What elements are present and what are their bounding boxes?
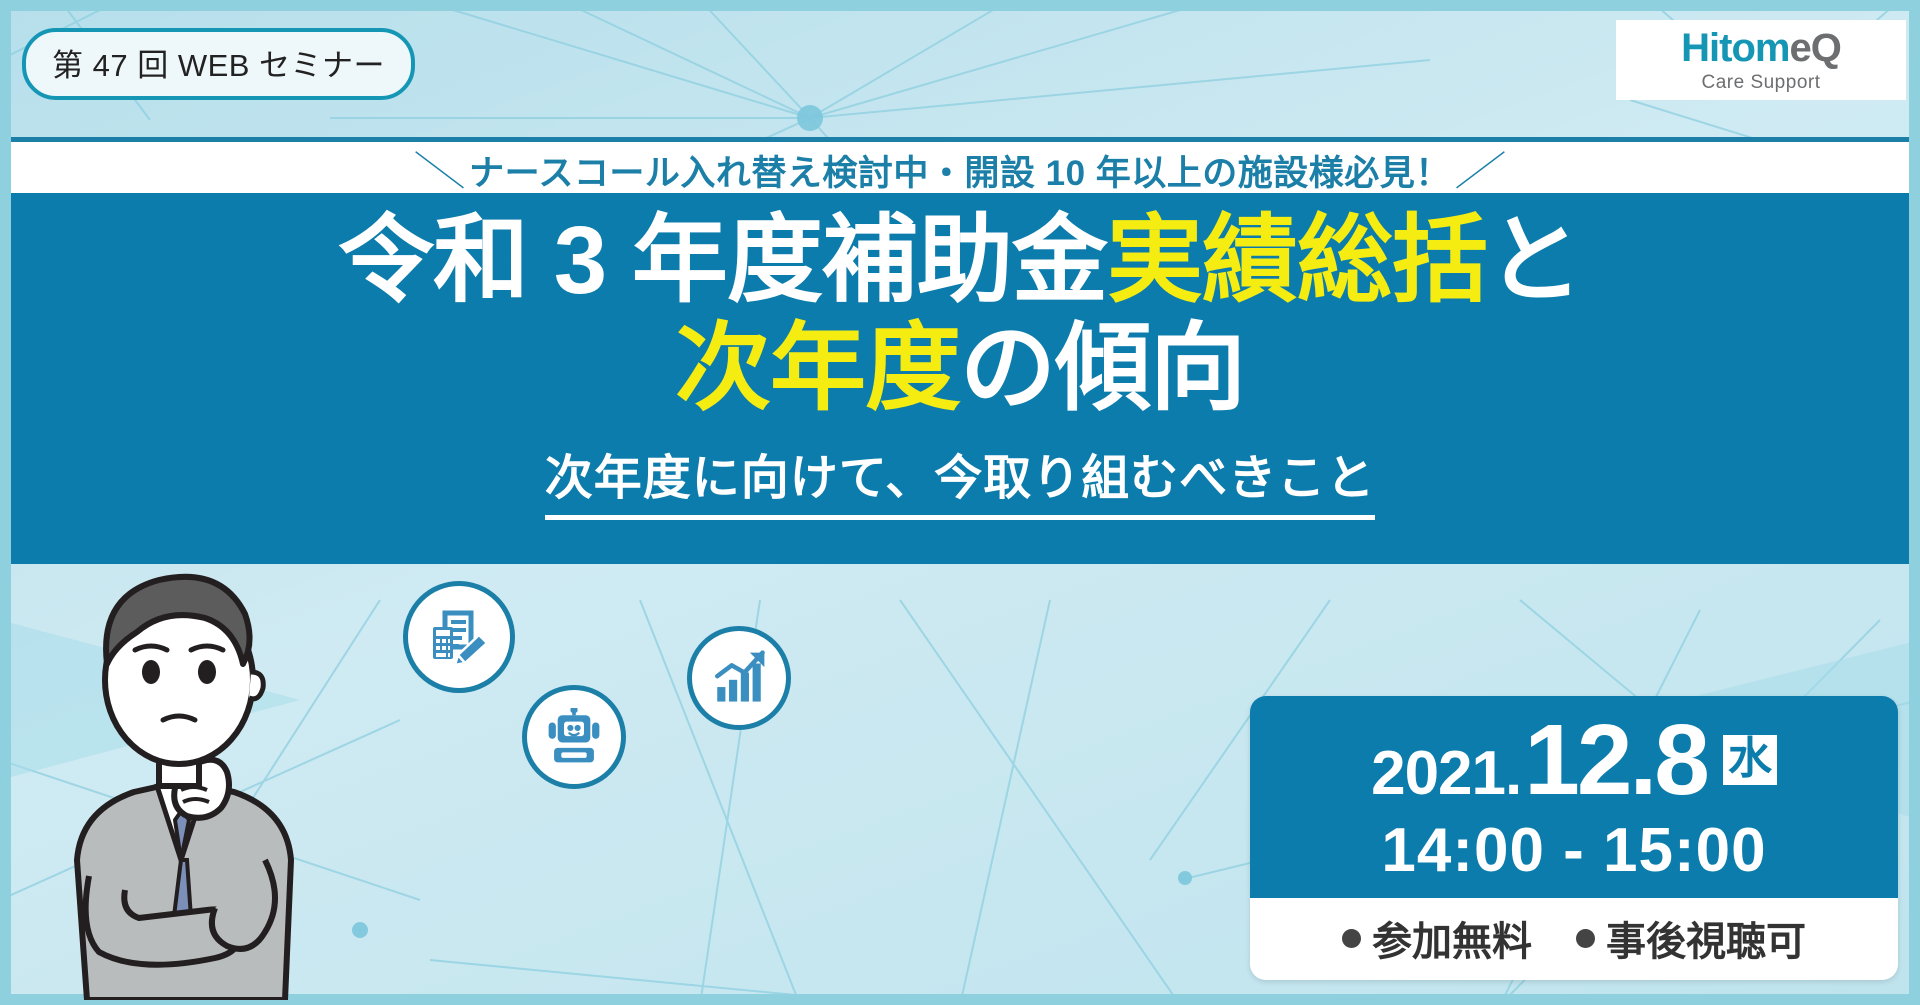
date-separator-dot: .	[1505, 743, 1522, 805]
title-tagline: 次年度に向けて、今取り組むべきこと	[545, 438, 1376, 520]
title-line1-part-a: 令和 3 年度補助金	[338, 207, 1107, 314]
date-month-day: 12.8	[1524, 710, 1707, 810]
date-row: 2021 . 12.8 水	[1250, 710, 1898, 810]
note-free-entry-label: 参加無料	[1372, 909, 1532, 967]
subtitle-text-row: ＼ナースコール入れ替え検討中・開設 10 年以上の施設様必見！／	[409, 139, 1512, 197]
growth-chart-glyph	[710, 649, 768, 707]
title-line2-highlight: 次年度	[675, 315, 960, 422]
document-calculator-pencil-icon	[403, 581, 515, 693]
tagline-wrapper: 次年度に向けて、今取り組むべきこと	[545, 438, 1376, 520]
date-card: 2021 . 12.8 水 14:00 - 15:00 参加無料 事後視聴可	[1250, 696, 1898, 980]
event-time: 14:00 - 15:00	[1250, 820, 1898, 882]
title-line2-part-b: の傾向	[960, 315, 1245, 422]
logo-wordmark: HitomeQ	[1681, 28, 1841, 68]
subtitle-text: ナースコール入れ替え検討中・開設 10 年以上の施設様必見！	[469, 154, 1451, 193]
title-line1-highlight: 実績総括	[1107, 207, 1487, 314]
slash-right-decoration: ／	[1441, 139, 1520, 197]
title-line-2: 次年度の傾向	[675, 315, 1245, 423]
webinar-banner: 第 47 回 WEB セミナー HitomeQ Care Support ＼ナー…	[0, 0, 1920, 1005]
title-line1-part-b: と	[1487, 207, 1582, 314]
lower-section: 2021 . 12.8 水 14:00 - 15:00 参加無料 事後視聴可	[11, 564, 1909, 994]
title-line-1: 令和 3 年度補助金実績総括と	[338, 207, 1582, 315]
date-card-top: 2021 . 12.8 水 14:00 - 15:00	[1250, 696, 1898, 898]
note-ondemand-label: 事後視聴可	[1606, 909, 1806, 967]
businessman-illustration	[29, 560, 359, 1000]
hitomeq-logo: HitomeQ Care Support	[1616, 20, 1906, 100]
bullet-icon	[1342, 929, 1361, 948]
date-card-notes: 参加無料 事後視聴可	[1250, 898, 1898, 980]
note-free-entry: 参加無料	[1342, 909, 1532, 967]
logo-wordmark-gray: eQ	[1789, 26, 1840, 70]
logo-wordmark-teal: Hitom	[1681, 26, 1789, 70]
care-robot-glyph	[545, 708, 603, 766]
date-year: 2021	[1371, 743, 1505, 805]
slash-left-decoration: ＼	[399, 139, 478, 197]
logo-tagline: Care Support	[1701, 73, 1820, 92]
note-ondemand: 事後視聴可	[1576, 909, 1806, 967]
subtitle-strip: ＼ナースコール入れ替え検討中・開設 10 年以上の施設様必見！／	[11, 137, 1909, 193]
growth-chart-icon	[687, 626, 791, 730]
seminar-number-badge: 第 47 回 WEB セミナー	[22, 28, 415, 100]
care-robot-icon	[522, 685, 626, 789]
bullet-icon	[1576, 929, 1595, 948]
date-day-of-week: 水	[1723, 735, 1777, 785]
main-title-block: 令和 3 年度補助金実績総括と 次年度の傾向 次年度に向けて、今取り組むべきこと	[11, 193, 1909, 564]
document-calculator-pencil-glyph	[427, 605, 491, 669]
top-bar: 第 47 回 WEB セミナー HitomeQ Care Support	[0, 11, 1920, 107]
